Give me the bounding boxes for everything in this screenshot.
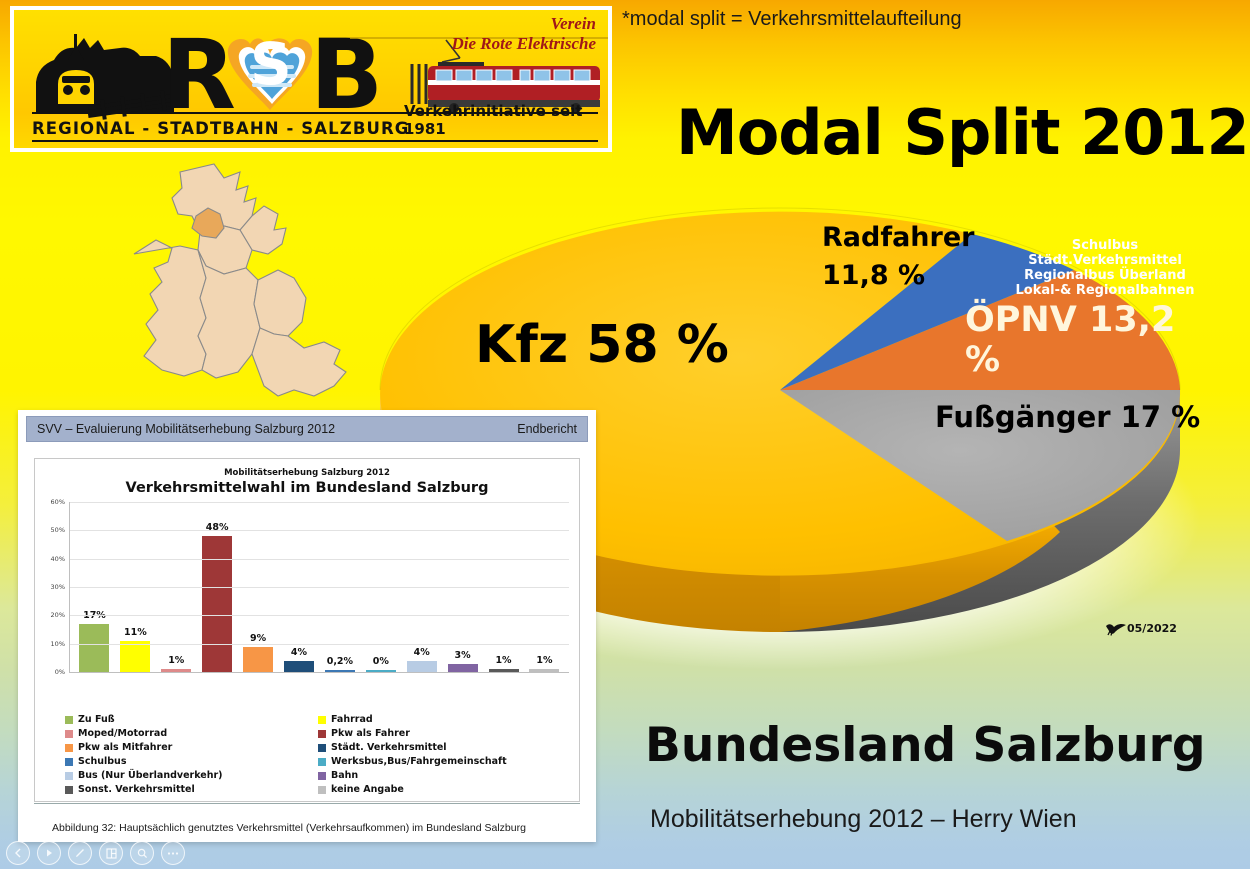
bar — [202, 536, 232, 672]
y-tick: 10% — [51, 640, 65, 648]
slide-canvas: R B S — [0, 0, 1250, 869]
bar — [407, 661, 437, 672]
swallow-bird-icon — [1105, 622, 1127, 636]
legend-item: Pkw als Mitfahrer — [65, 742, 312, 753]
logo-divider-bottom — [32, 140, 598, 142]
bar-value-label: 3% — [455, 650, 471, 661]
back-icon[interactable] — [6, 841, 30, 865]
logo-subtitle: REGIONAL - STADTBAHN - SALZBURG — [32, 119, 409, 138]
play-icon[interactable] — [37, 841, 61, 865]
legend-label: Bus (Nur Überlandverkehr) — [78, 770, 223, 781]
legend-item: Pkw als Fahrer — [318, 728, 565, 739]
legend-label: Moped/Motorrad — [78, 728, 167, 739]
bar-value-label: 1% — [536, 655, 552, 666]
bar — [325, 670, 355, 672]
layout-icon[interactable] — [99, 841, 123, 865]
bar — [243, 647, 273, 673]
legend-swatch — [318, 786, 326, 794]
legend-label: Bahn — [331, 770, 358, 781]
plot-area: 17%11%1%48%9%4%0,2%0%4%3%1%1% — [69, 502, 569, 673]
bar-value-label: 11% — [124, 627, 147, 638]
modal-split-note: *modal split = Verkehrsmittelaufteilung — [622, 8, 962, 31]
legend-item: keine Angabe — [318, 784, 565, 795]
legend-item: Fahrrad — [318, 714, 565, 725]
legend-item: Bahn — [318, 770, 565, 781]
bar — [79, 624, 109, 672]
bar — [161, 669, 191, 672]
svg-text:R: R — [162, 26, 236, 131]
y-tick: 50% — [51, 526, 65, 534]
y-tick: 20% — [51, 611, 65, 619]
salzburg-map — [128, 158, 388, 414]
grid-line — [70, 615, 569, 616]
bar — [489, 669, 519, 672]
svg-text:S: S — [250, 30, 292, 98]
legend-swatch — [318, 716, 326, 724]
bar-value-label: 4% — [414, 647, 430, 658]
pie-slice-value-radfahrer: 11,8 % — [822, 260, 925, 291]
legend-swatch — [318, 758, 326, 766]
bar-value-label: 1% — [168, 655, 184, 666]
legend-item: Sonst. Verkehrsmittel — [65, 784, 312, 795]
legend-label: Pkw als Fahrer — [331, 728, 410, 739]
grid-line — [70, 644, 569, 645]
bar-value-label: 0% — [373, 656, 389, 667]
bar — [120, 641, 150, 672]
legend-swatch — [65, 786, 73, 794]
legend-swatch — [318, 744, 326, 752]
legend-swatch — [65, 744, 73, 752]
report-header-left: SVV – Evaluierung Mobilitätserhebung Sal… — [37, 422, 335, 436]
bar-value-label: 1% — [495, 655, 511, 666]
y-tick: 0% — [55, 668, 65, 676]
bar-chart-legend: Zu FußFahrradMoped/MotorradPkw als Fahre… — [65, 714, 565, 795]
legend-label: Sonst. Verkehrsmittel — [78, 784, 195, 795]
y-tick: 60% — [51, 498, 65, 506]
bar-value-label: 48% — [206, 522, 229, 533]
bar-chart-plot: 0%10%20%30%40%50%60% 17%11%1%48%9%4%0,2%… — [43, 502, 571, 688]
bar — [529, 669, 559, 672]
bar-chart-supertitle: Mobilitätserhebung Salzburg 2012 — [35, 468, 579, 478]
bar-value-label: 9% — [250, 633, 266, 644]
report-caption: Abbildung 32: Hauptsächlich genutztes Ve… — [52, 822, 584, 834]
pie-slice-label-fussgaenger: Fußgänger 17 % — [935, 400, 1200, 434]
author-signature: 05/2022 — [1105, 622, 1177, 636]
legend-item: Städt. Verkehrsmittel — [318, 742, 565, 753]
legend-item: Werksbus,Bus/Fahrgemeinschaft — [318, 756, 565, 767]
report-divider — [34, 803, 580, 804]
legend-item: Zu Fuß — [65, 714, 312, 725]
logo-tagline-top: Verein — [452, 14, 596, 34]
bar-chart-title: Verkehrsmittelwahl im Bundesland Salzbur… — [35, 480, 579, 496]
more-icon[interactable] — [161, 841, 185, 865]
legend-swatch — [65, 758, 73, 766]
legend-label: Städt. Verkehrsmittel — [331, 742, 447, 753]
legend-label: keine Angabe — [331, 784, 404, 795]
logo-tagline: Verein Die Rote Elektrische — [452, 14, 596, 54]
legend-swatch — [65, 716, 73, 724]
legend-item: Bus (Nur Überlandverkehr) — [65, 770, 312, 781]
legend-swatch — [318, 772, 326, 780]
page-title: Modal Split 2012 — [676, 96, 1249, 169]
grid-line — [70, 587, 569, 588]
legend-label: Zu Fuß — [78, 714, 115, 725]
y-tick: 40% — [51, 555, 65, 563]
bar-value-label: 0,2% — [327, 656, 353, 667]
legend-swatch — [318, 730, 326, 738]
legend-label: Schulbus — [78, 756, 126, 767]
pie-slice-label-radfahrer: Radfahrer — [822, 222, 974, 253]
pie-slice-label-opnv: ÖPNV 13,2 % — [965, 300, 1210, 380]
bar-chart-card: Mobilitätserhebung Salzburg 2012 Verkehr… — [34, 458, 580, 802]
y-tick: 30% — [51, 583, 65, 591]
y-axis: 0%10%20%30%40%50%60% — [43, 502, 67, 672]
pen-icon[interactable] — [68, 841, 92, 865]
legend-swatch — [65, 772, 73, 780]
legend-label: Pkw als Mitfahrer — [78, 742, 172, 753]
report-panel: SVV – Evaluierung Mobilitätserhebung Sal… — [18, 410, 596, 842]
salzburg-map-icon — [128, 158, 388, 414]
pie-opnv-components: Schulbus Städt.Verkehrsmittel Regionalbu… — [970, 238, 1240, 298]
logo-subtitle-right: Verkehrinitiative seit 1981 — [404, 102, 608, 138]
grid-line — [70, 559, 569, 560]
legend-label: Fahrrad — [331, 714, 373, 725]
presentation-toolbar[interactable] — [6, 841, 185, 865]
grid-line — [70, 530, 569, 531]
logo-tagline-bottom: Die Rote Elektrische — [452, 34, 596, 54]
report-header: SVV – Evaluierung Mobilitätserhebung Sal… — [26, 416, 588, 442]
region-title: Bundesland Salzburg — [645, 718, 1206, 773]
legend-swatch — [65, 730, 73, 738]
legend-item: Moped/Motorrad — [65, 728, 312, 739]
bar — [448, 664, 478, 673]
grid-line — [70, 502, 569, 503]
bar — [284, 661, 314, 672]
report-header-right: Endbericht — [517, 422, 577, 436]
zoom-icon[interactable] — [130, 841, 154, 865]
pie-slice-label-kfz: Kfz 58 % — [475, 315, 729, 375]
rsb-logo: R B S — [10, 6, 612, 152]
bar — [366, 670, 396, 672]
bar-value-label: 4% — [291, 647, 307, 658]
signature-date: 05/2022 — [1127, 622, 1177, 635]
legend-item: Schulbus — [65, 756, 312, 767]
legend-label: Werksbus,Bus/Fahrgemeinschaft — [331, 756, 507, 767]
source-line: Mobilitätserhebung 2012 – Herry Wien — [650, 805, 1077, 834]
